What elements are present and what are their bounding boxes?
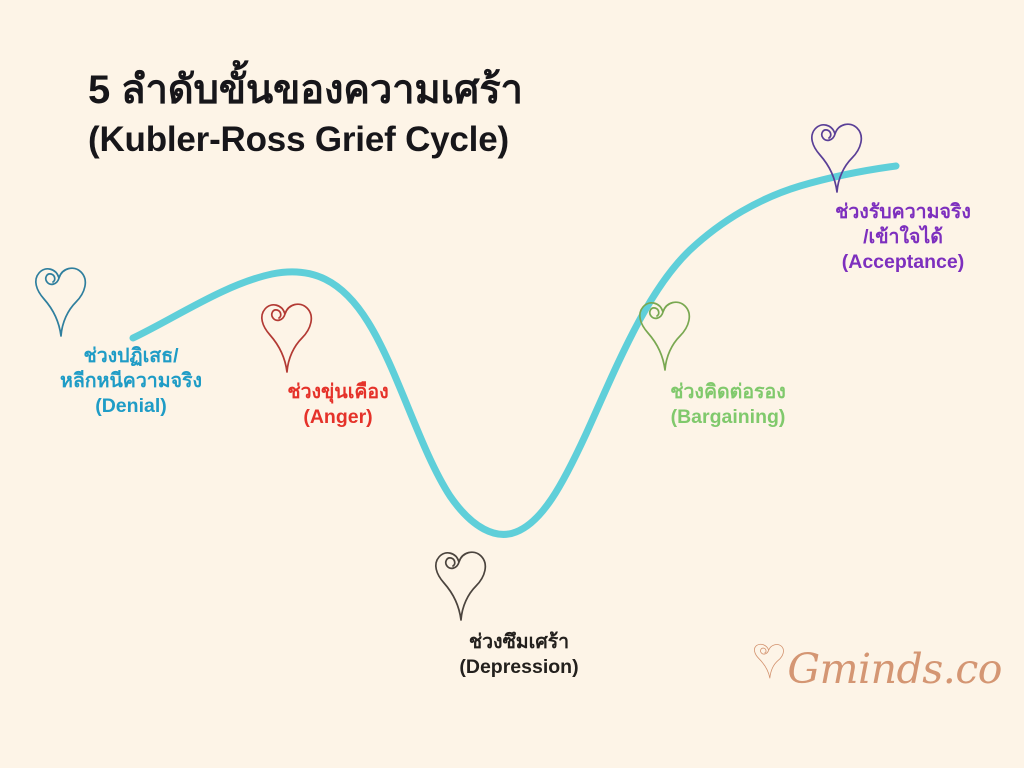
stage-bargaining-english: (Bargaining): [630, 405, 826, 430]
stage-denial: ช่วงปฏิเสธ/ หลีกหนีความจริง (Denial): [28, 262, 234, 419]
stage-bargaining-thai: ช่วงคิดต่อรอง: [670, 381, 786, 403]
watermark: Gminds.co: [752, 608, 1002, 714]
stage-acceptance-english: (Acceptance): [790, 250, 1016, 275]
stage-bargaining: ช่วงคิดต่อรอง (Bargaining): [630, 296, 826, 430]
stage-denial-english: (Denial): [28, 394, 234, 419]
stage-bargaining-label: ช่วงคิดต่อรอง (Bargaining): [630, 380, 826, 430]
stage-denial-thai: ช่วงปฏิเสธ/: [83, 345, 178, 367]
stage-denial-label: ช่วงปฏิเสธ/ หลีกหนีความจริง (Denial): [28, 344, 234, 419]
stage-depression-english: (Depression): [424, 655, 614, 680]
stage-depression-thai: ช่วงซึมเศร้า: [469, 631, 569, 653]
stage-anger-label: ช่วงขุ่นเคือง (Anger): [250, 380, 426, 430]
stage-anger: ช่วงขุ่นเคือง (Anger): [250, 298, 426, 430]
spiral-heart-icon: [254, 298, 316, 374]
spiral-heart-icon: [28, 262, 90, 338]
watermark-text: Gminds.co: [787, 645, 1002, 693]
stage-depression: ช่วงซึมเศร้า (Depression): [424, 546, 614, 680]
stage-anger-english: (Anger): [250, 405, 426, 430]
stage-denial-thai2: หลีกหนีความจริง: [28, 369, 234, 394]
spiral-heart-icon: [804, 118, 866, 194]
infographic-canvas: 5 ลำดับขั้นของความเศร้า (Kubler-Ross Gri…: [0, 0, 1024, 768]
stage-acceptance-thai: ช่วงรับความจริง: [835, 201, 971, 223]
script-heart-icon: [752, 613, 785, 709]
spiral-heart-icon: [632, 296, 694, 372]
stage-depression-label: ช่วงซึมเศร้า (Depression): [424, 630, 614, 680]
spiral-heart-icon: [428, 546, 490, 622]
stage-acceptance-thai2: /เข้าใจได้: [790, 225, 1016, 250]
stage-acceptance-label: ช่วงรับความจริง /เข้าใจได้ (Acceptance): [790, 200, 1016, 275]
stage-acceptance: ช่วงรับความจริง /เข้าใจได้ (Acceptance): [790, 118, 1016, 275]
stage-anger-thai: ช่วงขุ่นเคือง: [287, 381, 388, 403]
